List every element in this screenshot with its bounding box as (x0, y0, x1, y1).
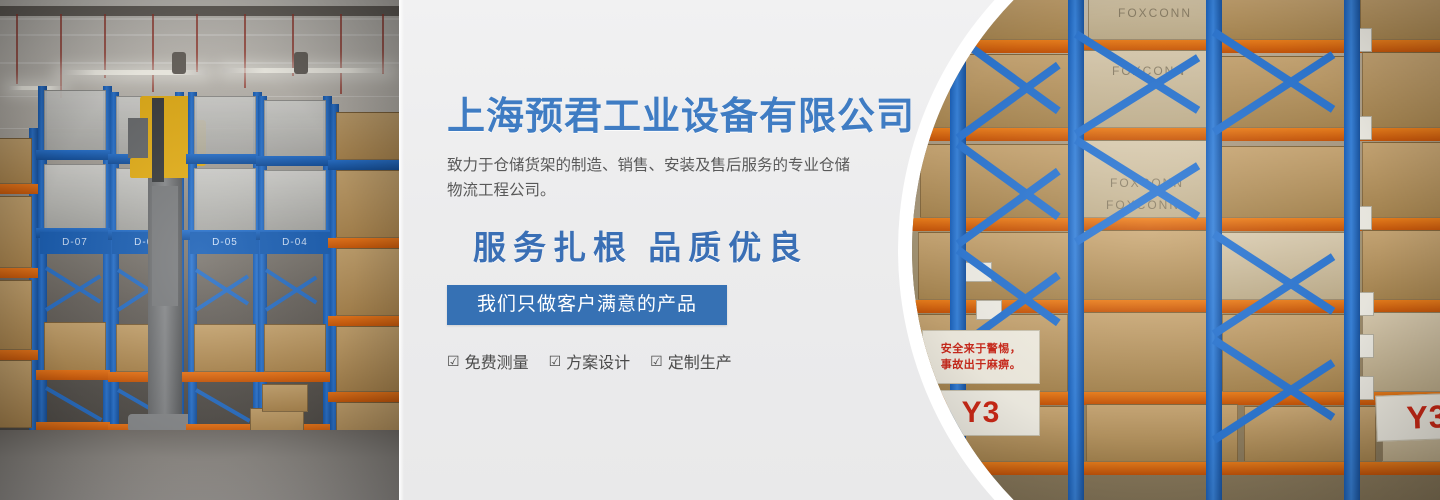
feature-label: 定制生产 (668, 349, 732, 373)
hero-copy-block: 上海预君工业设备有限公司 致力于仓储货架的制造、销售、安装及售后服务的专业仓储物… (447, 96, 917, 373)
feature-item-custom-production: ☑ 定制生产 (650, 349, 732, 373)
right-photo-vignette (912, 0, 1440, 500)
cta-button[interactable]: 我们只做客户满意的产品 (447, 285, 727, 326)
panel-left-edge-highlight (399, 0, 404, 500)
hero-banner: D-07 D-06 (0, 0, 1440, 500)
feature-item-solution-design: ☑ 方案设计 (549, 349, 631, 373)
feature-list: ☑ 免费测量 ☑ 方案设计 ☑ 定制生产 (447, 349, 917, 373)
left-warehouse-photo: D-07 D-06 (0, 0, 399, 500)
check-box-icon: ☑ (549, 354, 562, 368)
right-photo-inner: FOXCONN FOXCONN FOXCONN FOXCONN (912, 0, 1440, 500)
check-box-icon: ☑ (447, 354, 460, 368)
feature-label: 方案设计 (566, 349, 630, 373)
right-warehouse-photo: FOXCONN FOXCONN FOXCONN FOXCONN (912, 0, 1440, 500)
company-title: 上海预君工业设备有限公司 (447, 96, 917, 139)
left-photo-vignette (0, 0, 399, 500)
feature-label: 免费测量 (465, 349, 529, 373)
check-box-icon: ☑ (650, 354, 663, 368)
hero-slogan: 服务扎根 品质优良 (473, 221, 917, 269)
company-subtitle: 致力于仓储货架的制造、销售、安装及售后服务的专业仓储物流工程公司。 (447, 153, 865, 203)
feature-item-free-measure: ☑ 免费测量 (447, 349, 529, 373)
